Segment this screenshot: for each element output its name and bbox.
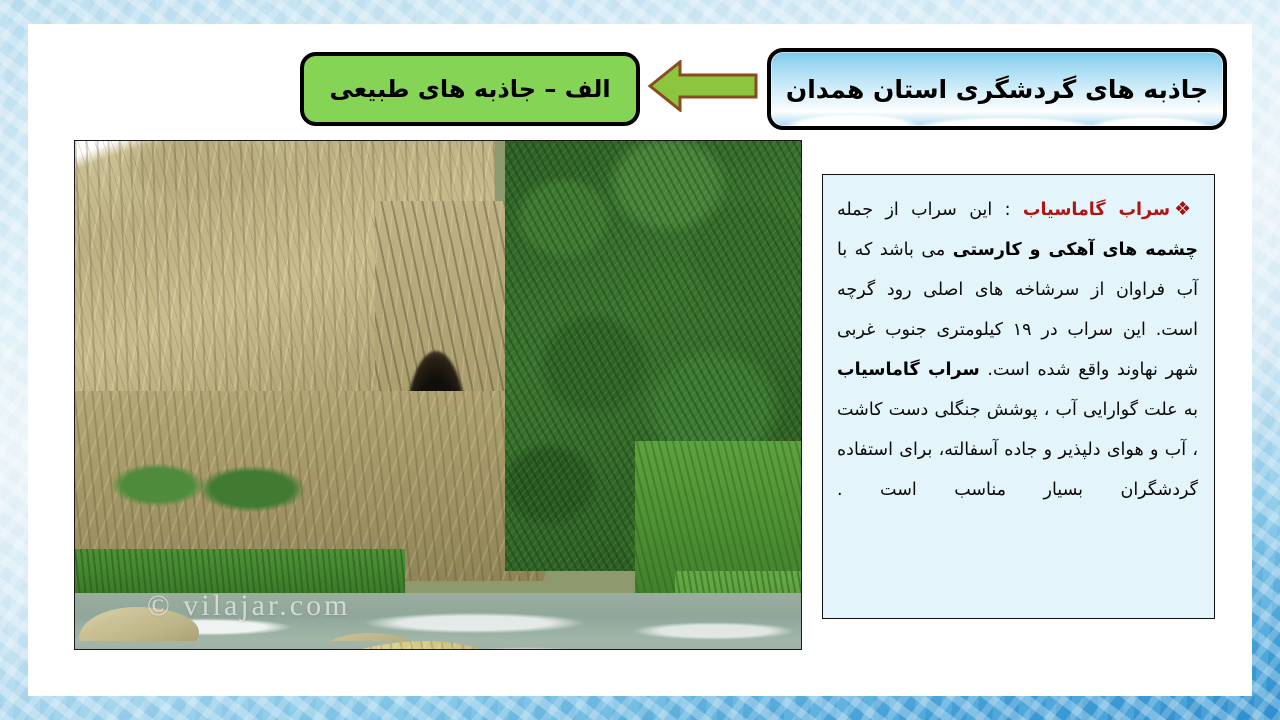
- photo-shrubs: [105, 441, 315, 521]
- desc-text-1: این سراب از جمله: [837, 200, 992, 220]
- left-arrow-icon: [646, 60, 760, 112]
- desc-bold-1: چشمه های آهکی و کارستی: [953, 240, 1198, 260]
- diamond-bullet-icon: ❖: [1174, 198, 1198, 220]
- desc-bold-2: سراب گاماسیاب: [837, 360, 980, 380]
- description-box: ❖سراب گاماسیاب : این سراب از جمله چشمه ه…: [822, 174, 1215, 619]
- term-separator: :: [992, 200, 1023, 220]
- section-title-plate: الف – جاذبه های طبیعی: [300, 52, 640, 126]
- desc-number: ۱۹: [1013, 320, 1032, 340]
- main-title-plate: جاذبه های گردشگری استان همدان: [767, 48, 1227, 130]
- desc-text-4: به علت گوارایی آب ، پوشش جنگلی دست کاشت …: [837, 400, 1198, 500]
- slide: جاذبه های گردشگری استان همدان الف – جاذب…: [0, 0, 1280, 720]
- description-paragraph: ❖سراب گاماسیاب : این سراب از جمله چشمه ه…: [837, 189, 1198, 510]
- term-name: سراب گاماسیاب: [1023, 200, 1170, 220]
- landscape-photo: © vilajar.com: [74, 140, 802, 650]
- section-title: الف – جاذبه های طبیعی: [329, 75, 610, 103]
- page-title: جاذبه های گردشگری استان همدان: [786, 75, 1208, 104]
